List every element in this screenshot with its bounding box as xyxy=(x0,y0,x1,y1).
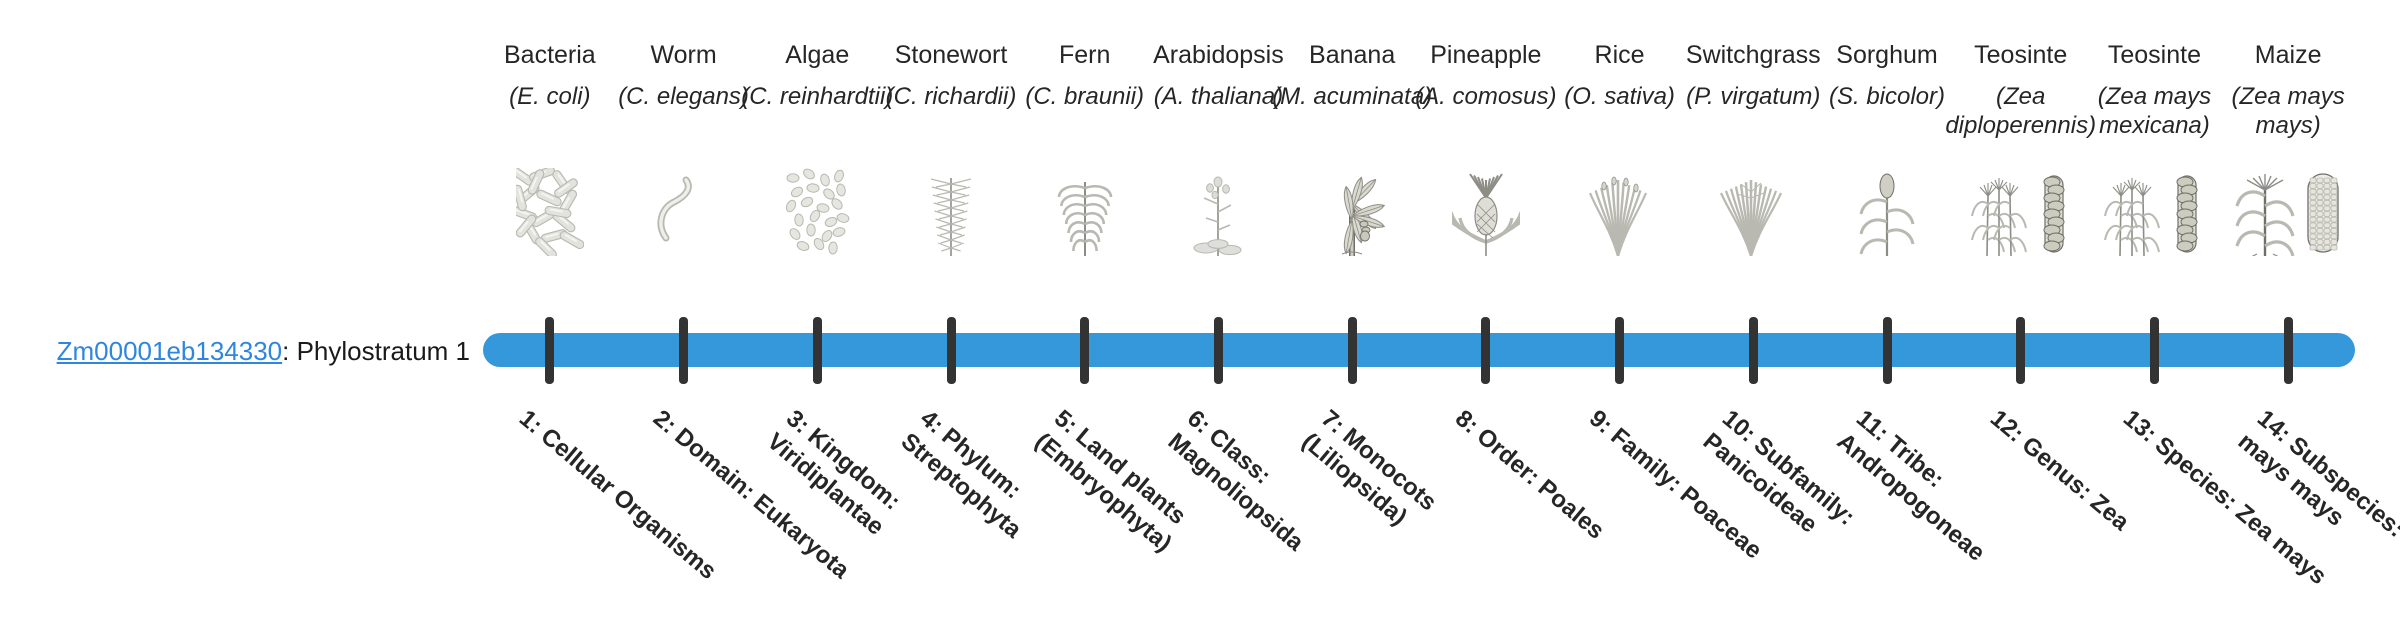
phylostratum-tick-12 xyxy=(2016,317,2025,384)
phylostratum-tick-1 xyxy=(545,317,554,384)
species-common-name: Maize xyxy=(2198,40,2378,70)
phylostratum-tick-13 xyxy=(2150,317,2159,384)
algae-cells-icon xyxy=(757,168,877,256)
pineapple-icon xyxy=(1426,168,1546,256)
gene-id-link[interactable]: Zm00001eb134330 xyxy=(57,336,283,366)
species-scientific-name: (Zea mays mays) xyxy=(2198,82,2378,140)
phylostratum-number: 13: xyxy=(2118,405,2162,448)
gene-phylostratum-label: Zm00001eb134330: Phylostratum 1 xyxy=(0,336,470,366)
phylostratum-tick-8 xyxy=(1481,317,1490,384)
phylostratum-tick-10 xyxy=(1749,317,1758,384)
phylostratum-tick-6 xyxy=(1214,317,1223,384)
phylostratum-tick-7 xyxy=(1348,317,1357,384)
phylostratum-rank: Genus: xyxy=(2016,431,2097,505)
phylostratum-rank: Cellular xyxy=(535,423,620,500)
phylostratum-figure: Zm00001eb134330: Phylostratum 1 Bacteria… xyxy=(0,0,2400,580)
phylostratum-tick-3 xyxy=(813,317,822,384)
phylostratum-rank: Family: xyxy=(1605,423,1687,498)
arabidopsis-icon xyxy=(1158,168,1278,256)
phylostratum-taxon: mays xyxy=(2268,530,2332,590)
phylostratum-tick-4 xyxy=(947,317,956,384)
species-column-14: Maize (Zea mays mays) xyxy=(2198,40,2378,140)
phylostratum-rank: Domain: xyxy=(669,423,760,505)
teosinte-plant-icon xyxy=(1961,168,2081,256)
phylostratum-taxon: Zea xyxy=(2085,489,2134,536)
maize-cob-icon xyxy=(2228,168,2348,256)
phylostratum-tick-5 xyxy=(1080,317,1089,384)
phylostratum-taxon: Organisms xyxy=(608,484,721,585)
phylostratum-value: : Phylostratum 1 xyxy=(282,336,470,366)
rice-plant-icon xyxy=(1560,168,1680,256)
phylostratum-tick-2 xyxy=(679,317,688,384)
phylostratum-taxon: Poales xyxy=(1533,474,1610,544)
phylostratum-label-1: 1: Cellular Organisms xyxy=(513,404,739,601)
teosinte-ear-icon xyxy=(2094,168,2214,256)
nematode-worm-icon xyxy=(624,168,744,256)
banana-plant-icon xyxy=(1292,168,1412,256)
bacteria-rods-icon xyxy=(490,168,610,256)
fern-frond-icon xyxy=(1025,168,1145,256)
sorghum-icon xyxy=(1827,168,1947,256)
phylostratum-tick-14 xyxy=(2284,317,2293,384)
phylostratum-tick-11 xyxy=(1883,317,1892,384)
phylostratum-timeline-bar xyxy=(483,333,2355,367)
phylostratum-rank: Order: xyxy=(1471,423,1545,491)
phylostratum-number: 12: xyxy=(1985,405,2029,448)
stonewort-icon xyxy=(891,168,1011,256)
phylostratum-tick-9 xyxy=(1615,317,1624,384)
switchgrass-icon xyxy=(1693,168,1813,256)
